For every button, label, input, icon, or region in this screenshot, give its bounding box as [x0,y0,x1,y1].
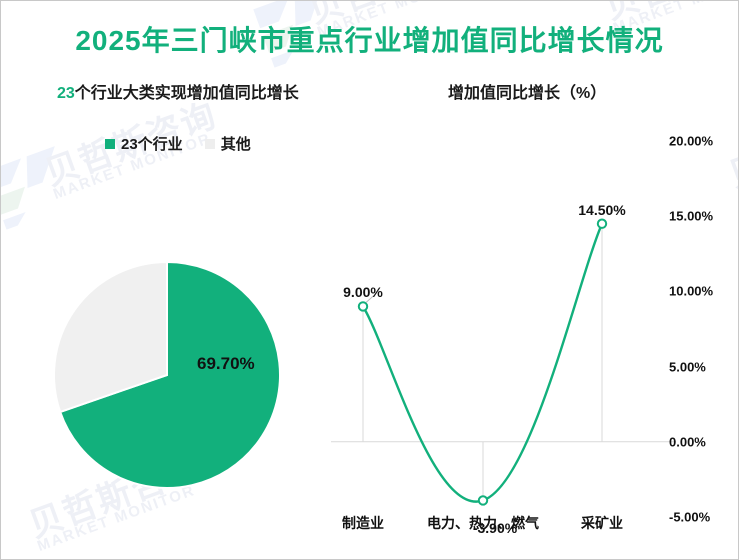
y-axis-tick-label: 5.00% [669,359,706,374]
legend-item-industries[interactable]: 23个行业 [105,133,183,154]
y-axis-tick-label: 0.00% [669,434,706,449]
page-title: 2025年三门峡市重点行业增加值同比增长情况 [1,19,738,59]
line-chart-subtitle: 增加值同比增长（%） [448,79,606,103]
y-axis-tick-label: 10.00% [669,284,713,299]
square-marker-icon [105,139,115,149]
legend-label-industries: 23个行业 [121,133,183,154]
pie-subtitle-count: 23 [57,85,75,102]
line-data-label: 9.00% [343,284,383,300]
line-data-point[interactable] [598,220,606,228]
legend-label-other: 其他 [221,133,251,154]
y-axis-tick-label: -5.00% [669,510,710,525]
beizhesi-logo-icon [0,140,79,232]
pie-chart-subtitle: 23个行业大类实现增加值同比增长 [57,79,299,103]
line-data-point[interactable] [479,496,487,504]
y-axis-tick-label: 20.00% [669,134,713,149]
square-marker-icon [205,139,215,149]
pie-value-label-industries: 69.70% [197,354,255,374]
line-data-point[interactable] [359,302,367,310]
pie-chart-svg [53,261,281,489]
line-chart-y-axis: 20.00%15.00%10.00%5.00%0.00%-5.00% [669,129,739,529]
chart-canvas: 贝哲斯咨询 MARKET MONITOR 贝哲斯咨询 MARKET MONITO… [0,0,739,560]
pie-chart [53,261,281,489]
legend-item-other[interactable]: 其他 [205,133,251,154]
line-data-label: 14.50% [578,202,625,218]
x-axis-tick-label: 采矿业 [581,513,623,533]
pie-legend: 23个行业 其他 [105,133,251,154]
pie-subtitle-text: 个行业大类实现增加值同比增长 [75,85,299,102]
x-axis-tick-label: 制造业 [342,513,384,533]
watermark-logo-left [0,151,69,226]
y-axis-tick-label: 15.00% [669,209,713,224]
watermark-en-bottom: MARKET MONITOR [35,482,198,555]
line-data-label: -3.90% [473,520,517,536]
